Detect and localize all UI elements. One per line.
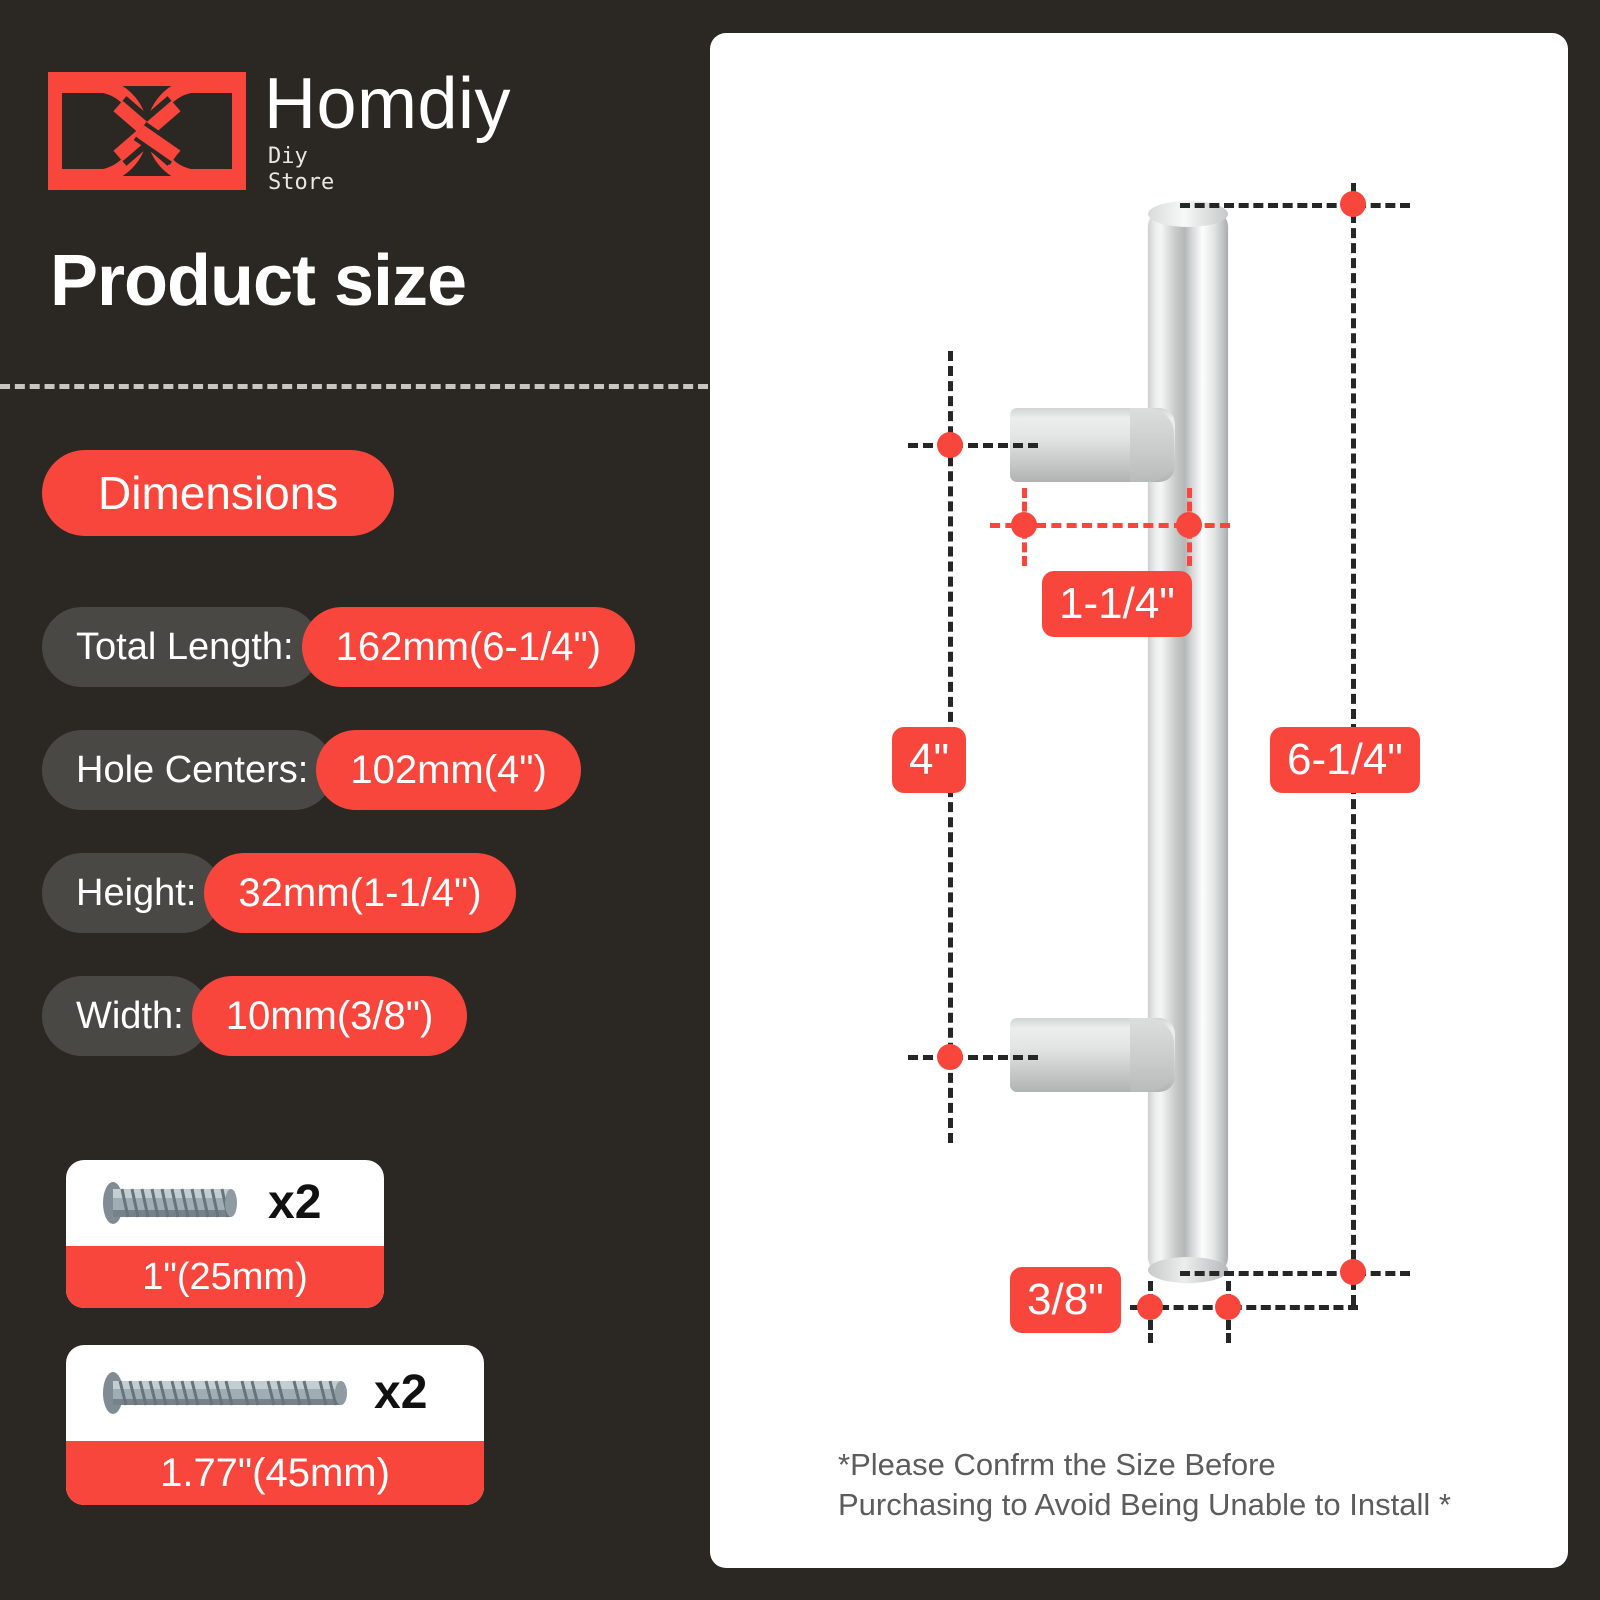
hole-centers-top-extension [908,443,1038,448]
dimension-label: Total Length: [42,607,320,687]
width-right-marker [1215,1294,1241,1320]
brand-subtitle-line1: Diy [268,144,511,170]
disclaimer-line-2: Purchasing to Avoid Being Unable to Inst… [838,1485,1498,1525]
callout-total-length: 6-1/4" [1270,727,1420,793]
height-right-marker [1176,512,1202,538]
hardware-card-long-screw: x2 1.77"(45mm) [66,1345,484,1505]
page-title: Product size [50,240,466,322]
callout-height: 1-1/4" [1042,571,1192,637]
dimension-value: 102mm(4") [316,730,580,810]
callout-hole-centers: 4" [892,727,966,793]
brand-subtitle-line2: Store [268,170,511,196]
hole-centers-top-marker [937,432,963,458]
hardware-card-body: x2 [66,1345,484,1441]
dimension-label: Width: [42,976,210,1056]
handle-bottom-cap [1148,1257,1228,1283]
dimension-value: 10mm(3/8") [192,976,468,1056]
hardware-count: x2 [268,1179,321,1227]
dimension-row-width: Width: 10mm(3/8") [42,976,467,1056]
hardware-card-body: x2 [66,1160,384,1246]
handle-post-bottom-neck [1130,1018,1174,1092]
brand-name: Homdiy [264,66,511,142]
dimension-row-hole-centers: Hole Centers: 102mm(4") [42,730,581,810]
total-length-top-extension [1180,203,1410,208]
total-length-top-marker [1340,191,1366,217]
brand-subtitle: Diy Store [268,144,511,196]
diagram-stage: 6-1/4" 4" 1-1/4" 3/8" *Please Confrm the… [710,33,1568,1568]
callout-width: 3/8" [1010,1267,1121,1333]
handle-post-top-neck [1130,408,1174,482]
hardware-size-label: 1"(25mm) [66,1246,384,1308]
homdiy-infinity-logo-icon [48,72,246,190]
dimension-label: Height: [42,853,222,933]
dimensions-header-pill: Dimensions [42,450,394,536]
hole-centers-bottom-marker [937,1044,963,1070]
disclaimer-line-1: *Please Confrm the Size Before [838,1445,1498,1485]
info-column: Homdiy Diy Store Product size Dimensions… [0,0,710,1600]
hardware-count: x2 [374,1369,427,1417]
brand-lockup: Homdiy Diy Store [48,72,511,202]
dimension-value: 162mm(6-1/4") [302,607,635,687]
dimension-row-total-length: Total Length: 162mm(6-1/4") [42,607,635,687]
height-left-marker [1011,512,1037,538]
brand-text: Homdiy Diy Store [264,66,511,196]
hole-centers-bottom-extension [908,1055,1038,1060]
screw-long-icon [100,1370,358,1416]
total-length-bottom-extension [1180,1271,1410,1276]
size-disclaimer: *Please Confrm the Size Before Purchasin… [838,1445,1498,1525]
dimension-value: 32mm(1-1/4") [204,853,515,933]
total-length-bottom-marker [1340,1259,1366,1285]
width-dimension-line [1130,1305,1358,1310]
width-left-marker [1137,1294,1163,1320]
dimension-row-height: Height: 32mm(1-1/4") [42,853,516,933]
screw-short-icon [100,1180,252,1226]
hardware-card-short-screw: x2 1"(25mm) [66,1160,384,1308]
section-divider [0,384,708,389]
dimension-label: Hole Centers: [42,730,334,810]
hardware-size-label: 1.77"(45mm) [66,1441,484,1505]
product-diagram-panel: 6-1/4" 4" 1-1/4" 3/8" *Please Confrm the… [710,33,1568,1568]
t-bar-cabinet-pull-handle-icon [1148,201,1228,1283]
